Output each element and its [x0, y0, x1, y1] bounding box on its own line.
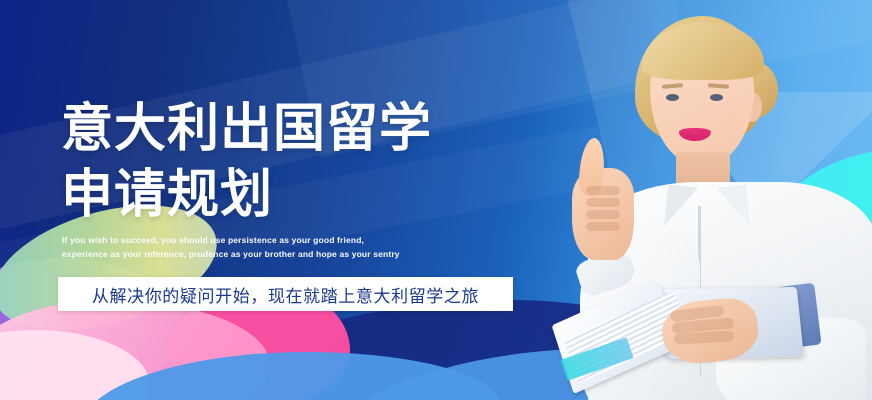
title-line-1: 意大利出国留学 — [61, 96, 432, 162]
knuckle-line — [586, 186, 620, 195]
subtitle-text: 从解决你的疑问开始，现在就踏上意大利留学之旅 — [92, 282, 479, 307]
shirt-collar-right — [716, 185, 750, 230]
english-tagline: If you wish to succeed, you should use p… — [62, 234, 400, 261]
eye-left — [666, 94, 679, 101]
subtitle-bar: 从解决你的疑问开始，现在就踏上意大利留学之旅 — [58, 277, 513, 311]
knuckle-line — [586, 222, 620, 231]
english-line-2: experience as your reference, prudence a… — [62, 248, 400, 262]
banner-title: 意大利出国留学 申请规划 — [61, 96, 432, 228]
study-abroad-banner: 意大利出国留学 申请规划 If you wish to succeed, you… — [0, 0, 872, 400]
shirt-collar-left — [664, 185, 698, 230]
knuckle-line — [586, 210, 620, 219]
title-line-2: 申请规划 — [61, 162, 432, 228]
english-line-1: If you wish to succeed, you should use p… — [62, 234, 400, 248]
hair-fringe — [642, 22, 764, 80]
woman-photo — [470, 0, 872, 400]
eye-right — [710, 94, 723, 101]
knuckle-line — [586, 198, 620, 207]
